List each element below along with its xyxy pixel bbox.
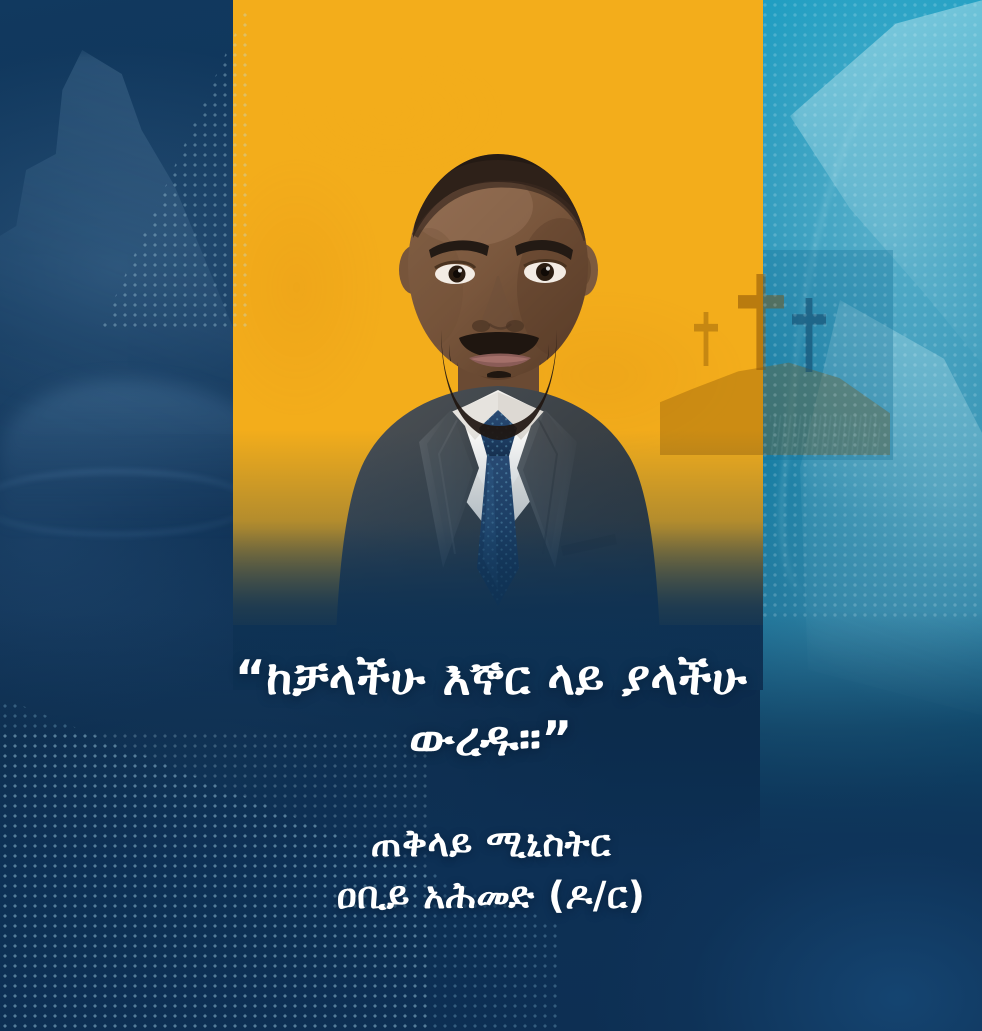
quote-text: “ከቻላችሁ እኞር ላይ ያላችሁ ውረዱ።” [40, 648, 942, 770]
attribution-title: ጠቅላይ ሚኒስትር [40, 818, 942, 870]
attribution-name: ዐቢይ አሕመድ (ዶ/ር) [40, 870, 942, 922]
quote-poster: “ከቻላችሁ እኞር ላይ ያላችሁ ውረዱ።” ጠቅላይ ሚኒስትር ዐቢይ … [0, 0, 982, 1031]
quote-line-2: ውረዱ።” [40, 709, 942, 770]
attribution-block: ጠቅላይ ሚኒስትር ዐቢይ አሕመድ (ዶ/ር) [40, 818, 942, 922]
quote-line-1: “ከቻላችሁ እኞር ላይ ያላችሁ [40, 648, 942, 709]
text-block: “ከቻላችሁ እኞር ላይ ያላችሁ ውረዱ።” ጠቅላይ ሚኒስትር ዐቢይ … [0, 648, 982, 922]
cross-medium-icon [792, 298, 826, 372]
grass-texture [770, 415, 880, 455]
